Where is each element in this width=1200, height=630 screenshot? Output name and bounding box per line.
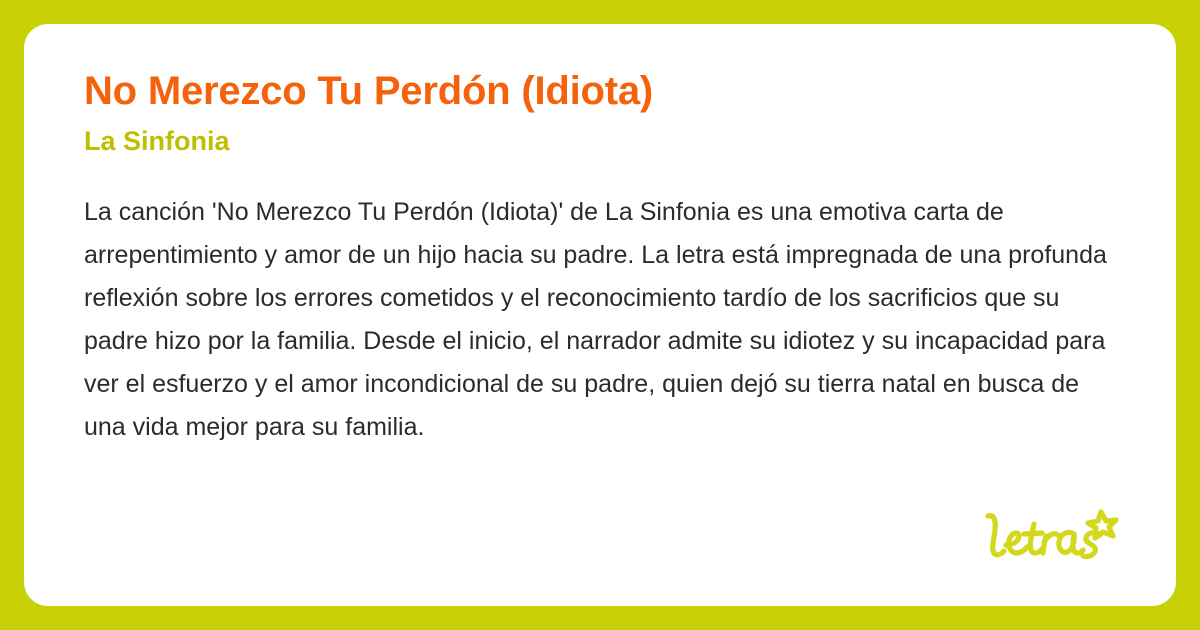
letras-star-logo-icon (980, 508, 1120, 564)
song-summary-card: No Merezco Tu Perdón (Idiota) La Sinfoni… (24, 24, 1176, 606)
letras-logo (980, 508, 1120, 564)
page-title: No Merezco Tu Perdón (Idiota) (84, 68, 1116, 115)
artist-name: La Sinfonia (84, 125, 1116, 157)
og-image-frame: No Merezco Tu Perdón (Idiota) La Sinfoni… (0, 0, 1200, 630)
song-summary-text: La canción 'No Merezco Tu Perdón (Idiota… (84, 191, 1108, 449)
